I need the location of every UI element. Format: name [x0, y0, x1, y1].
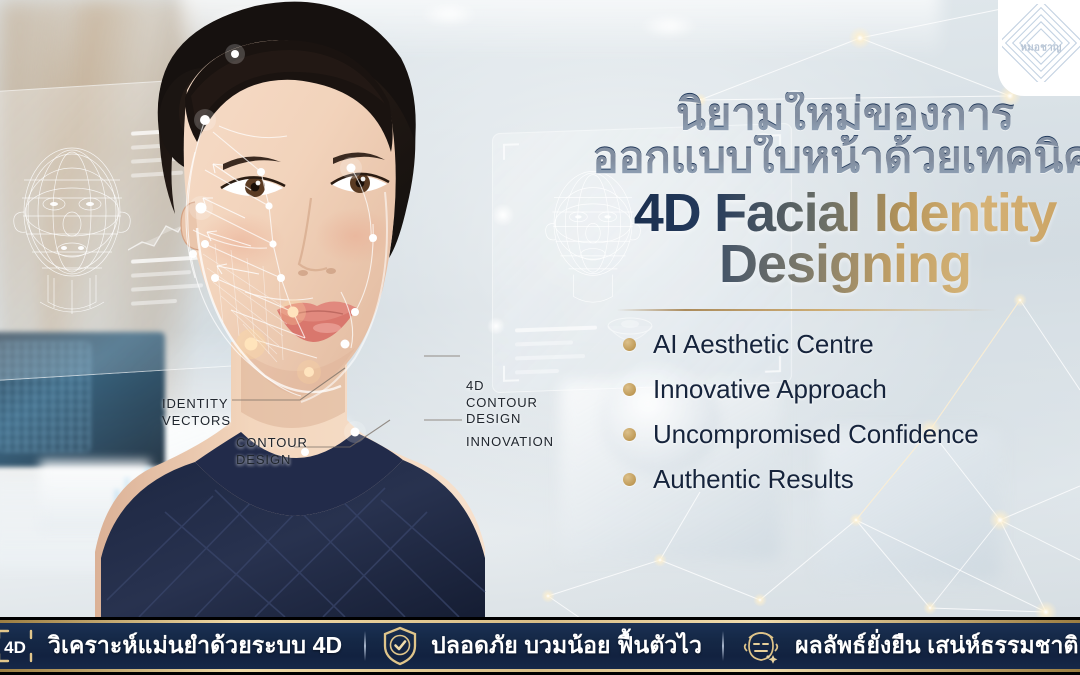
bar-item-text: ผลลัพธ์ยั่งยืน เสน่ห์ธรรมชาติ	[795, 628, 1078, 664]
4d-icon-label: 4D	[4, 638, 26, 657]
headline-block: นิยามใหม่ของการ ออกแบบใบหน้าด้วยเทคนิค 4…	[595, 92, 1080, 509]
network-node	[540, 588, 556, 604]
headline-thai-line-2: ออกแบบใบหน้าด้วยเทคนิค	[589, 135, 1080, 180]
gold-divider	[617, 309, 997, 311]
annotation-line: CONTOUR	[236, 435, 308, 452]
shield-check-icon	[381, 625, 419, 667]
network-node	[652, 552, 668, 568]
bullet-label: Innovative Approach	[653, 374, 887, 405]
promotional-banner: IDENTITY VECTORS CONTOUR DESIGN 4D CONTO…	[0, 0, 1080, 675]
annotation-line: DESIGN	[466, 411, 554, 428]
feature-bullet-list: AI Aesthetic Centre Innovative Approach …	[623, 329, 1080, 495]
bullet-dot-icon	[623, 383, 636, 396]
bar-separator	[722, 631, 724, 661]
list-item: Authentic Results	[623, 464, 1080, 495]
network-node	[848, 512, 864, 528]
network-node	[987, 507, 1013, 533]
annotation-contour-design: CONTOUR DESIGN	[236, 435, 308, 468]
bar-separator	[364, 631, 366, 661]
bullet-dot-icon	[623, 338, 636, 351]
list-item: Uncompromised Confidence	[623, 419, 1080, 450]
headline-english-line-2: Designing	[595, 236, 1080, 293]
brand-logo-text: หมอชาญ	[1020, 40, 1061, 55]
face-sparkle-icon	[739, 624, 783, 668]
annotation-line: CONTOUR	[466, 395, 554, 412]
annotation-line: INNOVATION	[466, 434, 554, 451]
bullet-label: Uncompromised Confidence	[653, 419, 979, 450]
bullet-label: AI Aesthetic Centre	[653, 329, 874, 360]
list-item: Innovative Approach	[623, 374, 1080, 405]
annotation-line: IDENTITY	[162, 396, 231, 413]
brand-logo[interactable]: หมอชาญ	[998, 0, 1080, 96]
network-node	[847, 25, 873, 51]
annotation-identity-vectors: IDENTITY VECTORS	[162, 396, 231, 429]
bar-item-1: 4D วิเคราะห์แม่นยำด้วยระบบ 4D	[0, 620, 342, 672]
bar-bottom-border	[0, 669, 1080, 672]
annotation-line: VECTORS	[162, 413, 231, 430]
bullet-dot-icon	[623, 473, 636, 486]
annotation-line: DESIGN	[236, 452, 308, 469]
bullet-dot-icon	[623, 428, 636, 441]
network-node	[752, 592, 768, 608]
bottom-feature-bar: 4D วิเคราะห์แม่นยำด้วยระบบ 4D ปลอดภัย บว…	[0, 617, 1080, 675]
bar-item-text: ปลอดภัย บวมน้อย ฟื้นตัวไว	[431, 628, 702, 664]
sparkle	[486, 316, 506, 336]
bullet-label: Authentic Results	[653, 464, 854, 495]
bar-top-border	[0, 620, 1080, 623]
annotation-line: 4D	[466, 378, 554, 395]
bar-item-3: ผลลัพธ์ยั่งยืน เสน่ห์ธรรมชาติ	[739, 620, 1078, 672]
annotation-4d-contour-design-innovation: 4D CONTOUR DESIGN INNOVATION	[466, 378, 554, 451]
bar-item-2: ปลอดภัย บวมน้อย ฟื้นตัวไว	[381, 620, 702, 672]
bar-item-text: วิเคราะห์แม่นยำด้วยระบบ 4D	[48, 628, 342, 664]
network-node	[922, 600, 938, 616]
4d-bracket-icon: 4D	[0, 626, 38, 666]
headline-thai-line-1: นิยามใหม่ของการ	[595, 92, 1080, 137]
sparkle	[490, 202, 516, 228]
list-item: AI Aesthetic Centre	[623, 329, 1080, 360]
